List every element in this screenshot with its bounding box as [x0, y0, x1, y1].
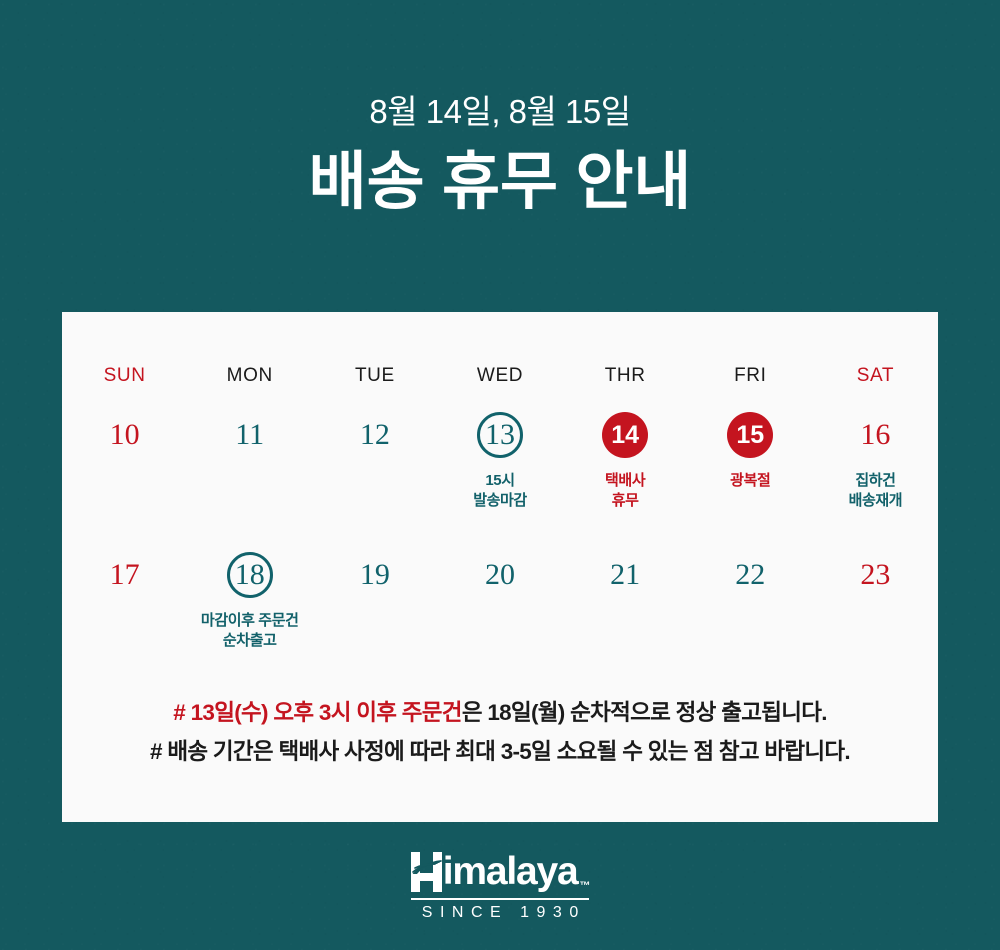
day-note — [62, 471, 187, 472]
logo-tagline: SINCE 1930 — [411, 905, 590, 921]
header: 8월 14일, 8월 15일 배송 휴무 안내 — [0, 92, 1000, 220]
calendar-cell: 12 — [312, 412, 437, 512]
calendar-cell-holiday: 14 택배사 휴무 — [563, 412, 688, 512]
leaf-icon — [410, 860, 443, 874]
brand-logo: imalaya ™ SINCE 1930 — [0, 852, 1000, 922]
trademark-icon: ™ — [579, 881, 589, 892]
calendar-cell: 17 — [62, 552, 187, 652]
day-number: 10 — [62, 412, 187, 458]
calendar-week-row: 10 11 12 13 15시 발송마감 14 택배사 휴무 15 광복절 — [62, 412, 938, 512]
day-number: 16 — [813, 412, 938, 458]
day-note: 15시 발송마감 — [437, 471, 562, 512]
logo-wordmark: imalaya ™ — [411, 852, 590, 892]
calendar-day-header-row: SUN MON TUE WED THR FRI SAT — [62, 365, 938, 387]
day-number: 21 — [563, 552, 688, 598]
logo-h-leaf-icon — [411, 852, 442, 892]
day-number: 19 — [312, 552, 437, 598]
day-number: 23 — [813, 552, 938, 598]
poster: 8월 14일, 8월 15일 배송 휴무 안내 SUN MON TUE WED … — [0, 0, 1000, 950]
day-note — [688, 611, 813, 612]
day-note: 택배사 휴무 — [563, 471, 688, 512]
day-number: 20 — [437, 552, 562, 598]
day-number: 22 — [688, 552, 813, 598]
footnote-hash: # — [173, 700, 185, 725]
calendar-cell-dispatch: 18 마감이후 주문건 순차출고 — [187, 552, 312, 652]
footnote-line-2: # 배송 기간은 택배사 사정에 따라 최대 3-5일 소요될 수 있는 점 참… — [62, 733, 938, 772]
logo-mark: imalaya ™ SINCE 1930 — [411, 852, 590, 921]
day-header-mon: MON — [187, 365, 312, 387]
day-number-circled: 18 — [227, 552, 273, 598]
calendar-cell: 20 — [437, 552, 562, 652]
calendar-cell-resume: 16 집하건 배송재개 — [813, 412, 938, 512]
page-title: 배송 휴무 안내 — [0, 144, 1000, 221]
footnote-line-1-highlight: 13일(수) 오후 3시 이후 주문건 — [191, 700, 462, 725]
day-number-highlighted: 14 — [602, 412, 648, 458]
header-subtitle: 8월 14일, 8월 15일 — [0, 92, 1000, 132]
day-note — [62, 611, 187, 612]
day-header-wed: WED — [437, 365, 562, 387]
day-number: 12 — [312, 412, 437, 458]
calendar-cell: 11 — [187, 412, 312, 512]
day-note — [437, 611, 562, 612]
calendar-cell: 22 — [688, 552, 813, 652]
footnote-line-1: # 13일(수) 오후 3시 이후 주문건은 18일(월) 순차적으로 정상 출… — [62, 694, 938, 733]
day-note: 광복절 — [688, 471, 813, 491]
calendar-cell: 19 — [312, 552, 437, 652]
day-header-thr: THR — [563, 365, 688, 387]
day-number-highlighted: 15 — [727, 412, 773, 458]
calendar-cell: 10 — [62, 412, 187, 512]
logo-divider — [411, 898, 590, 900]
day-note — [563, 611, 688, 612]
day-note — [312, 611, 437, 612]
day-number: 17 — [62, 552, 187, 598]
day-header-fri: FRI — [688, 365, 813, 387]
calendar-card: SUN MON TUE WED THR FRI SAT 10 11 12 13 — [62, 312, 938, 822]
calendar-cell-cutoff: 13 15시 발송마감 — [437, 412, 562, 512]
day-note: 집하건 배송재개 — [813, 471, 938, 512]
footnotes: # 13일(수) 오후 3시 이후 주문건은 18일(월) 순차적으로 정상 출… — [62, 694, 938, 771]
day-note: 마감이후 주문건 순차출고 — [187, 611, 312, 652]
calendar-cell-holiday: 15 광복절 — [688, 412, 813, 512]
calendar-cell: 23 — [813, 552, 938, 652]
day-header-sat: SAT — [813, 365, 938, 387]
day-note — [813, 611, 938, 612]
day-number: 11 — [187, 412, 312, 458]
day-note — [312, 471, 437, 472]
day-note — [187, 471, 312, 472]
logo-wordmark-text: imalaya — [443, 852, 578, 892]
day-header-sun: SUN — [62, 365, 187, 387]
calendar-cell: 21 — [563, 552, 688, 652]
day-header-tue: TUE — [312, 365, 437, 387]
day-number-circled: 13 — [477, 412, 523, 458]
footnote-line-1-rest: 은 18일(월) 순차적으로 정상 출고됩니다. — [462, 700, 827, 725]
calendar-week-row: 17 18 마감이후 주문건 순차출고 19 20 21 22 — [62, 552, 938, 652]
